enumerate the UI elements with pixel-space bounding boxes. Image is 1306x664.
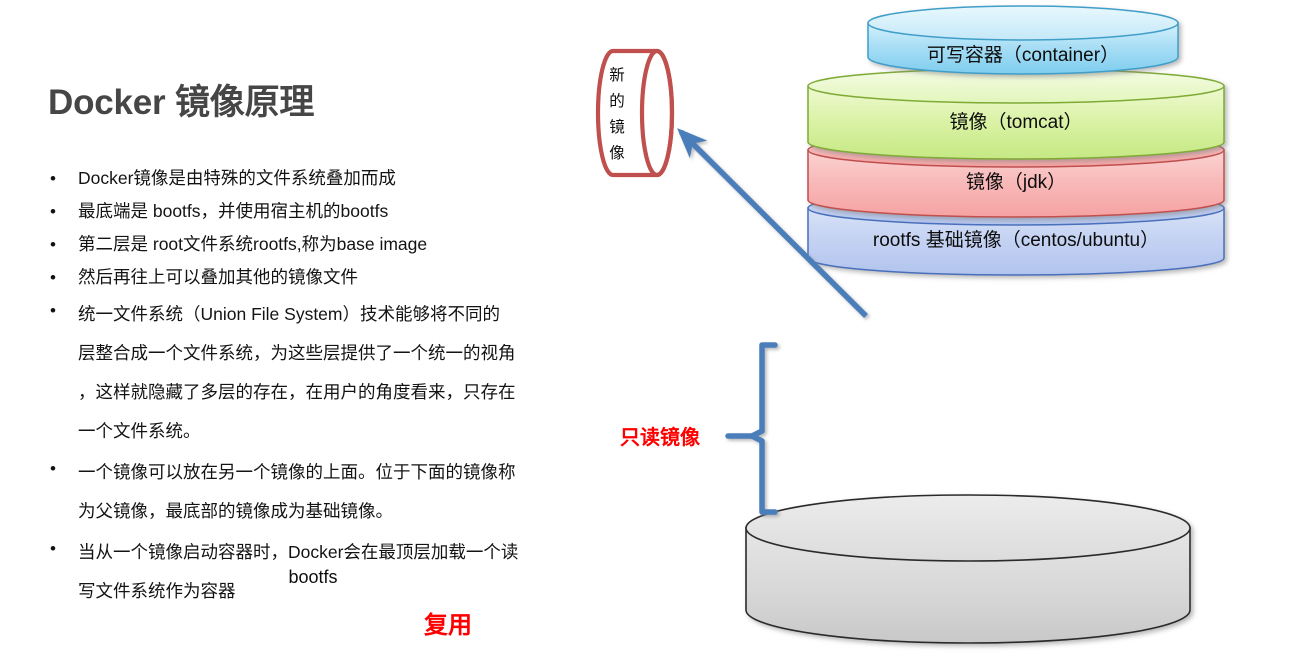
- new-image-label-char: 镜: [600, 115, 634, 141]
- bullet-line: 统一文件系统（Union File System）技术能够将不同的: [78, 295, 648, 334]
- bullet-item-5: • 统一文件系统（Union File System）技术能够将不同的 层整合成…: [48, 295, 648, 451]
- new-image-label: 新 的 镜 像: [600, 63, 634, 167]
- bullet-item-2: • 最底端是 bootfs，并使用宿主机的bootfs: [48, 196, 648, 227]
- bullet-item-3: • 第二层是 root文件系统rootfs,称为base image: [48, 229, 648, 260]
- bullet-marker-icon: •: [50, 163, 56, 194]
- bullet-marker-icon: •: [50, 196, 56, 227]
- readonly-bracket: [728, 345, 775, 512]
- bullet-line: 层整合成一个文件系统，为这些层提供了一个统一的视角: [78, 334, 648, 373]
- bullet-item-4: • 然后再往上可以叠加其他的镜像文件: [48, 262, 648, 293]
- bullet-line: 为父镜像，最底部的镜像成为基础镜像。: [78, 492, 648, 531]
- bullet-marker-icon: •: [50, 262, 56, 293]
- bootfs-cylinder: [746, 495, 1190, 643]
- bullet-item-6: • 一个镜像可以放在另一个镜像的上面。位于下面的镜像称 为父镜像，最底部的镜像成…: [48, 453, 648, 531]
- bullet-line: 第二层是 root文件系统rootfs,称为base image: [78, 229, 648, 260]
- bullet-line: 然后再往上可以叠加其他的镜像文件: [78, 262, 648, 293]
- bullet-list: • Docker镜像是由特殊的文件系统叠加而成 • 最底端是 bootfs，并使…: [48, 163, 648, 613]
- readonly-image-label: 只读镜像: [620, 421, 700, 450]
- new-image-label-char: 的: [600, 89, 634, 115]
- reuse-annotation: 复用: [424, 605, 472, 640]
- bullet-line: 一个文件系统。: [78, 412, 648, 451]
- container-layer-label: 可写容器（container）: [868, 40, 1178, 67]
- bullet-line: ，这样就隐藏了多层的存在，在用户的角度看来，只存在: [78, 373, 648, 412]
- rootfs-layer-label: rootfs 基础镜像（centos/ubuntu）: [808, 225, 1224, 252]
- bullet-line: 写文件系统作为容器: [78, 572, 648, 611]
- bullet-item-7: • 当从一个镜像启动容器时，Docker会在最顶层加载一个读 写文件系统作为容器: [48, 533, 648, 611]
- bullet-item-1: • Docker镜像是由特殊的文件系统叠加而成: [48, 163, 648, 194]
- reuse-arrow: [681, 132, 866, 316]
- bullet-line: Docker镜像是由特殊的文件系统叠加而成: [78, 163, 648, 194]
- jdk-layer-label: 镜像（jdk）: [808, 167, 1224, 194]
- bullet-line: 当从一个镜像启动容器时，Docker会在最顶层加载一个读: [78, 533, 648, 572]
- tomcat-layer-label: 镜像（tomcat）: [808, 107, 1224, 134]
- bullet-marker-icon: •: [50, 295, 56, 326]
- bullet-line: 一个镜像可以放在另一个镜像的上面。位于下面的镜像称: [78, 453, 648, 492]
- page-title: Docker 镜像原理: [48, 74, 314, 125]
- slide-canvas: Docker 镜像原理 • Docker镜像是由特殊的文件系统叠加而成 • 最底…: [0, 0, 1306, 664]
- bullet-marker-icon: •: [50, 229, 56, 260]
- bullet-marker-icon: •: [50, 533, 56, 564]
- bullet-marker-icon: •: [50, 453, 56, 484]
- bullet-line: 最底端是 bootfs，并使用宿主机的bootfs: [78, 196, 648, 227]
- new-image-label-char: 新: [600, 63, 634, 89]
- new-image-label-char: 像: [600, 141, 634, 167]
